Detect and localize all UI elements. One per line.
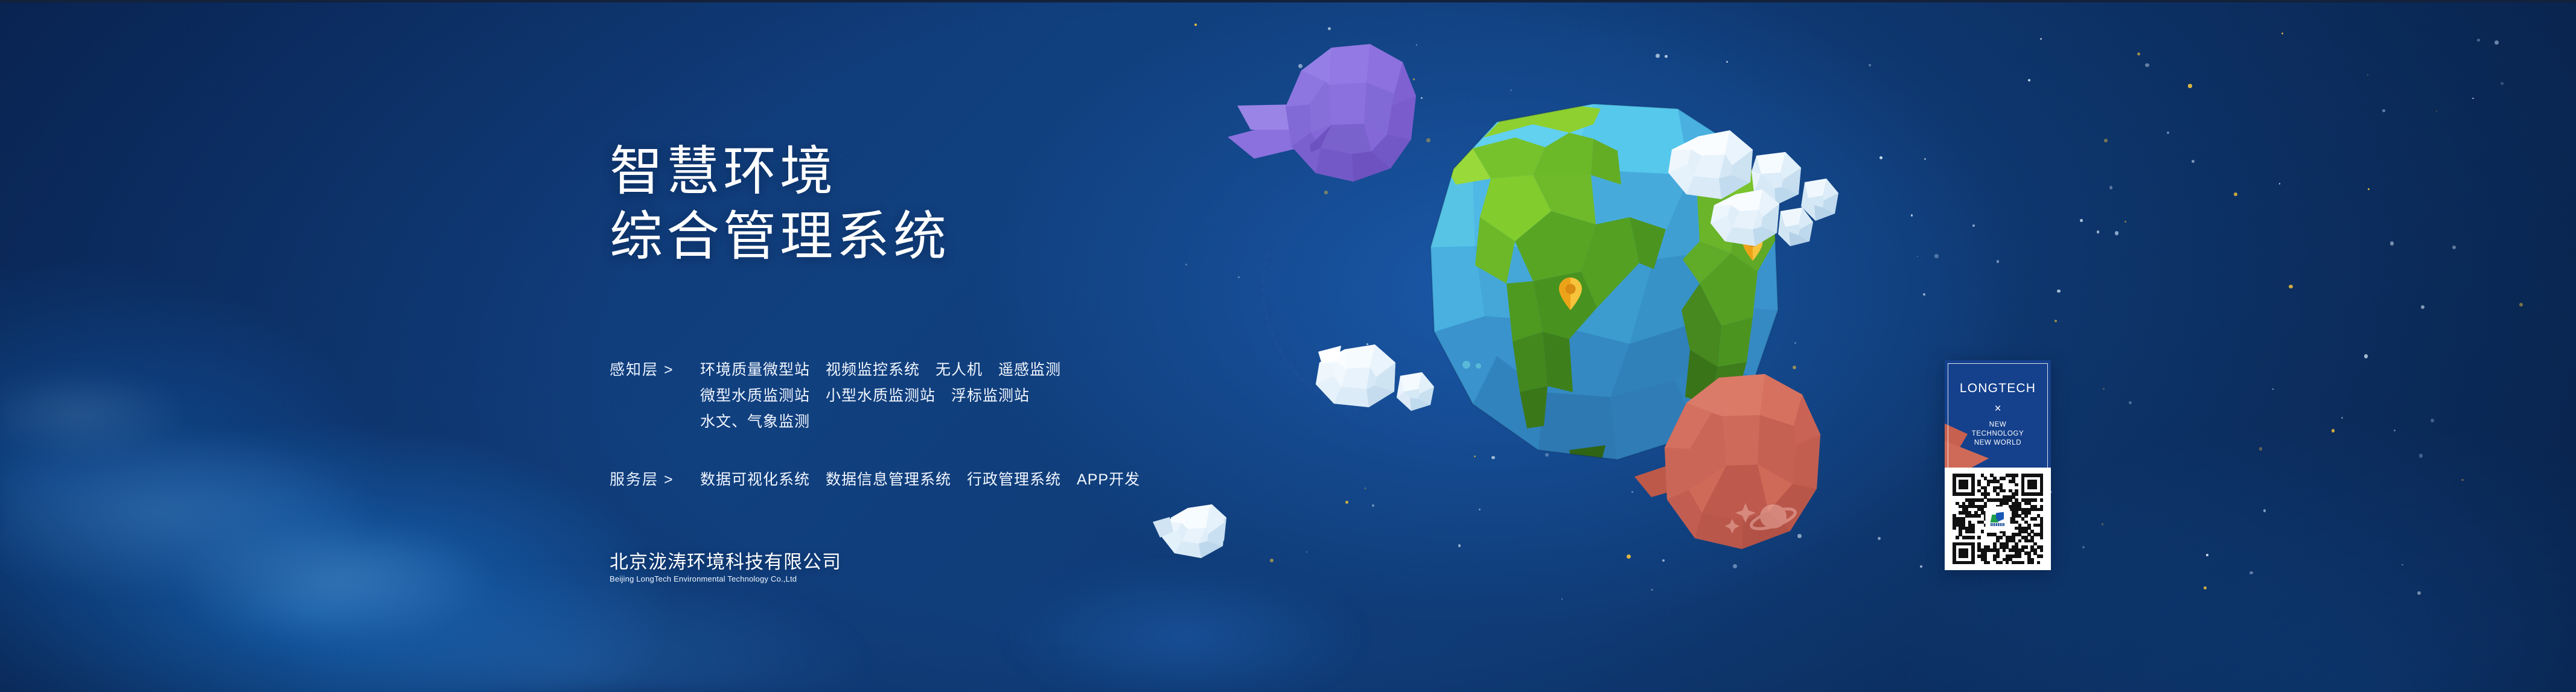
star-dot (2103, 388, 2105, 390)
star-dot (2382, 109, 2385, 112)
qr-module (2033, 517, 2037, 521)
qr-module (1971, 530, 1975, 533)
qr-module (1971, 492, 1975, 496)
qr-module (1984, 505, 1988, 509)
star-dot (1194, 24, 1197, 26)
qr-tagline-line-3: NEW WORLD (1972, 439, 2024, 448)
qr-promo-card[interactable]: LONGTECH × NEW TECHNOLOGY NEW WORLD (1945, 360, 2051, 570)
qr-module (2003, 489, 2006, 493)
star-dot (2097, 230, 2099, 233)
star-dot (2281, 33, 2283, 34)
star-dot (2055, 320, 2057, 322)
headline-line-1: 智慧环境 (610, 139, 1455, 204)
star-dot (1665, 55, 1668, 58)
qr-module (2040, 508, 2044, 512)
star-dot (2206, 554, 2208, 556)
layer-name[interactable]: 服务层 > (610, 467, 700, 493)
qr-code-image[interactable] (1953, 474, 2043, 564)
star-dot (2263, 509, 2266, 512)
layer-item[interactable]: 微型水质监测站 (700, 383, 810, 409)
qr-module (2021, 561, 2025, 565)
qr-module (1977, 536, 1981, 539)
layer-items: 数据可视化系统数据信息管理系统行政管理系统APP开发 (700, 467, 1140, 493)
layer-row: 服务层 >数据可视化系统数据信息管理系统行政管理系统APP开发 (610, 467, 1575, 493)
star-dot (2080, 219, 2083, 222)
layer-list: 感知层 >环境质量微型站视频监控系统无人机遥感监测微型水质监测站小型水质监测站浮… (610, 357, 1575, 493)
qr-module (1971, 561, 1975, 565)
qr-module (2006, 561, 2009, 565)
qr-module (1987, 483, 1991, 487)
qr-module (1981, 530, 1985, 533)
layer-item-line: 微型水质监测站小型水质监测站浮标监测站 (700, 383, 1061, 409)
layer-item[interactable]: 数据信息管理系统 (826, 467, 951, 493)
star-dot (2259, 447, 2263, 451)
qr-module (2015, 474, 2018, 477)
qr-module (2033, 498, 2037, 502)
layer-item-line: 水文、气象监测 (700, 409, 1061, 435)
qr-module (1987, 561, 1991, 565)
layer-name[interactable]: 感知层 > (610, 357, 700, 383)
qr-tagline-line-2: TECHNOLOGY (1972, 430, 2024, 439)
logo-wordmark (1991, 523, 2005, 526)
layer-row: 感知层 >环境质量微型站视频监控系统无人机遥感监测微型水质监测站小型水质监测站浮… (610, 357, 1575, 435)
qr-module (2000, 536, 2003, 539)
cloud-bottom-center (1153, 504, 1243, 570)
layer-item[interactable]: APP开发 (1077, 467, 1140, 493)
layer-item[interactable]: 视频监控系统 (826, 357, 920, 383)
star-dot (2421, 305, 2425, 309)
star-dot (2461, 479, 2463, 481)
red-planet (1618, 368, 1883, 621)
qr-module (1977, 514, 1981, 518)
qr-module (2003, 548, 2006, 552)
company-name-en: Beijing LongTech Environmental Technolog… (610, 574, 841, 585)
qr-module (2040, 536, 2044, 539)
qr-module (2037, 561, 2041, 565)
star-dot (2394, 430, 2396, 431)
layer-item[interactable]: 浮标监测站 (951, 383, 1030, 409)
layer-gap (610, 435, 1575, 467)
star-dot (2519, 303, 2523, 306)
star-dot (2204, 586, 2207, 589)
star-dot (2279, 183, 2281, 185)
layer-item[interactable]: 行政管理系统 (967, 467, 1061, 493)
qr-module (2040, 498, 2044, 502)
layer-item[interactable]: 环境质量微型站 (700, 357, 810, 383)
star-dot (2249, 571, 2253, 575)
layer-items: 环境质量微型站视频监控系统无人机遥感监测微型水质监测站小型水质监测站浮标监测站水… (700, 357, 1061, 435)
qr-center-logo (1986, 507, 2009, 530)
star-dot (2057, 290, 2061, 293)
qr-module (1987, 492, 1991, 496)
hero-banner: 智慧环境 综合管理系统 感知层 >环境质量微型站视频监控系统无人机遥感监测微型水… (0, 0, 2576, 692)
qr-module (2030, 561, 2034, 565)
qr-module (2015, 492, 2018, 496)
qr-brand-name: LONGTECH (1960, 381, 2036, 396)
qr-tagline: NEW TECHNOLOGY NEW WORLD (1972, 421, 2024, 448)
qr-card-header: LONGTECH × NEW TECHNOLOGY NEW WORLD (1945, 360, 2051, 468)
qr-module (2027, 511, 2031, 515)
layer-item-line: 环境质量微型站视频监控系统无人机遥感监测 (700, 357, 1061, 383)
star-dot (2417, 591, 2421, 595)
qr-tagline-line-1: NEW (1972, 421, 2024, 430)
map-pin-icon (1557, 276, 1584, 311)
star-dot (2234, 192, 2237, 196)
qr-separator-icon: × (1994, 400, 2001, 418)
layer-item[interactable]: 小型水质监测站 (826, 383, 936, 409)
top-edge-strip (0, 0, 2576, 2)
headline-block: 智慧环境 综合管理系统 (610, 139, 1455, 269)
qr-module (1996, 554, 2000, 558)
qr-module (1965, 554, 1969, 558)
qr-module (1956, 536, 1959, 539)
star-dot (2332, 429, 2335, 432)
layer-item[interactable]: 遥感监测 (998, 357, 1061, 383)
qr-module (2018, 554, 2022, 558)
layer-item[interactable]: 无人机 (936, 357, 983, 383)
star-dot (2167, 132, 2169, 134)
qr-module (2000, 561, 2003, 565)
company-name-cn: 北京泷涛环境科技有限公司 (610, 551, 841, 573)
qr-module (2024, 545, 2028, 549)
star-dot (2040, 38, 2042, 40)
qr-module (1965, 486, 1969, 490)
star-dot (1561, 598, 1563, 600)
headline-line-2: 综合管理系统 (610, 204, 1455, 269)
layer-item[interactable]: 数据可视化系统 (700, 467, 810, 493)
star-dot (2129, 401, 2132, 404)
star-dot (2364, 354, 2368, 358)
star-dot (2472, 98, 2473, 99)
star-dot (2192, 160, 2195, 163)
star-dot (2495, 40, 2499, 45)
star-dot (2188, 84, 2192, 87)
star-dot (2082, 546, 2085, 548)
star-dot (2104, 139, 2108, 142)
qr-module (2040, 554, 2044, 558)
company-block: 北京泷涛环境科技有限公司 Beijing LongTech Environmen… (610, 551, 841, 585)
star-dot (1656, 54, 1660, 58)
qr-module (2003, 477, 2006, 480)
qr-module (1996, 492, 2000, 496)
qr-module (2040, 492, 2044, 496)
qr-card-body (1945, 468, 2051, 570)
cloud-right-lower (1702, 185, 1829, 281)
layer-item-line: 数据可视化系统数据信息管理系统行政管理系统APP开发 (700, 467, 1140, 493)
qr-module (2033, 486, 2037, 490)
qr-module (2024, 514, 2028, 518)
qr-module (2015, 483, 2018, 487)
qr-module (2040, 548, 2044, 552)
qr-module (2018, 539, 2022, 543)
longtech-logo-mark-icon (1991, 512, 2004, 522)
qr-module (1953, 527, 1956, 530)
layer-item[interactable]: 水文、气象监测 (700, 409, 810, 435)
star-dot (2109, 186, 2113, 189)
qr-module (1971, 536, 1975, 539)
